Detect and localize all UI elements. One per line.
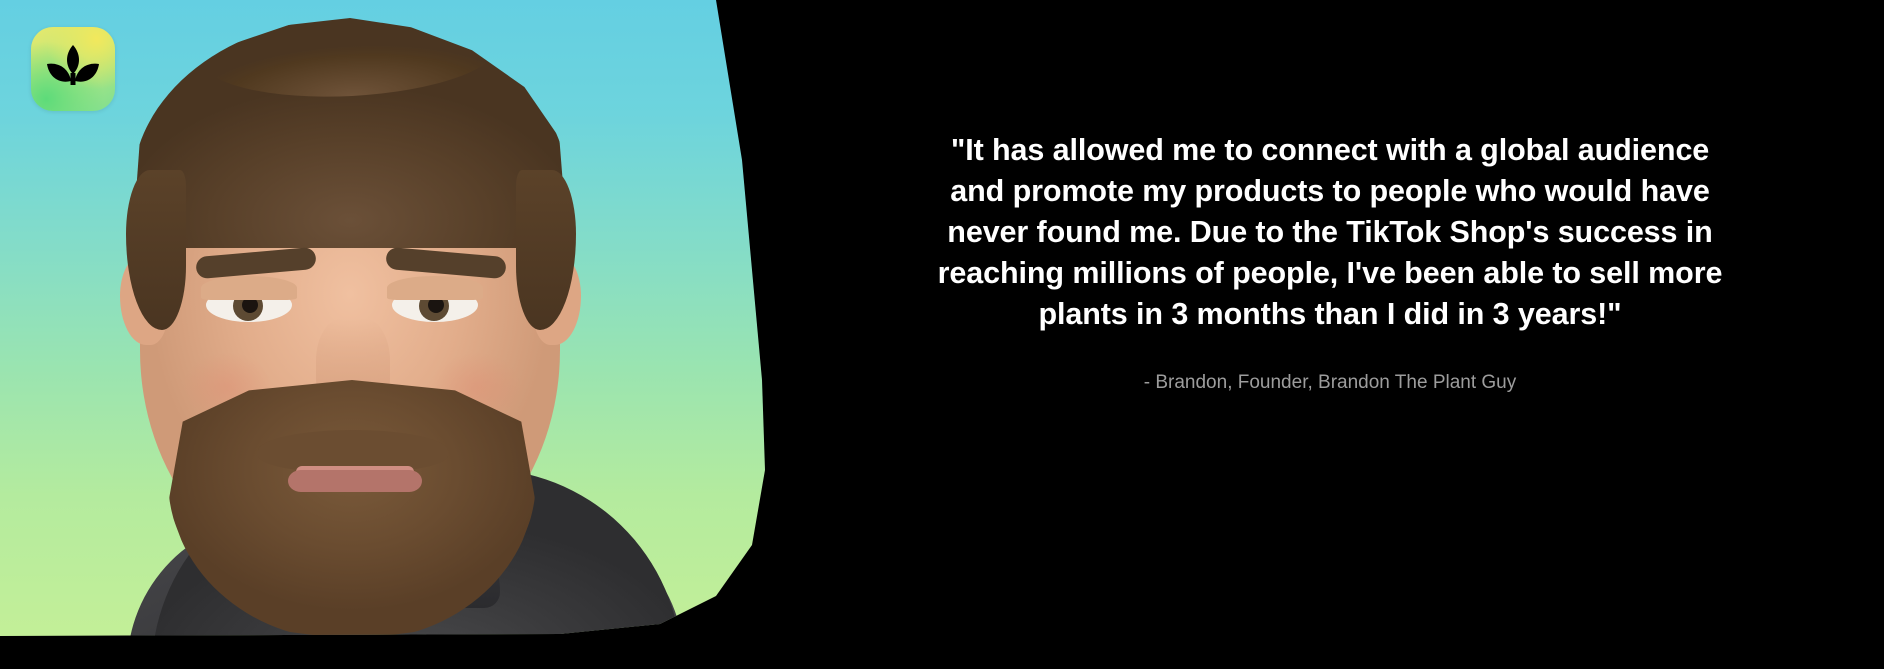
plant-leaf-glyph-icon — [45, 44, 101, 94]
testimonial-banner: "It has allowed me to connect with a glo… — [0, 0, 1884, 669]
testimonial-block: "It has allowed me to connect with a glo… — [935, 130, 1725, 396]
eyelid-left — [201, 276, 297, 300]
testimonial-quote: "It has allowed me to connect with a glo… — [935, 130, 1725, 335]
mouth — [288, 470, 422, 492]
plant-leaf-logo-icon[interactable] — [31, 27, 115, 111]
eyelid-right — [387, 276, 483, 300]
testimonial-attribution: - Brandon, Founder, Brandon The Plant Gu… — [935, 370, 1725, 396]
brandon-portrait-photo — [0, 0, 770, 636]
portrait-photo-panel — [0, 0, 770, 636]
